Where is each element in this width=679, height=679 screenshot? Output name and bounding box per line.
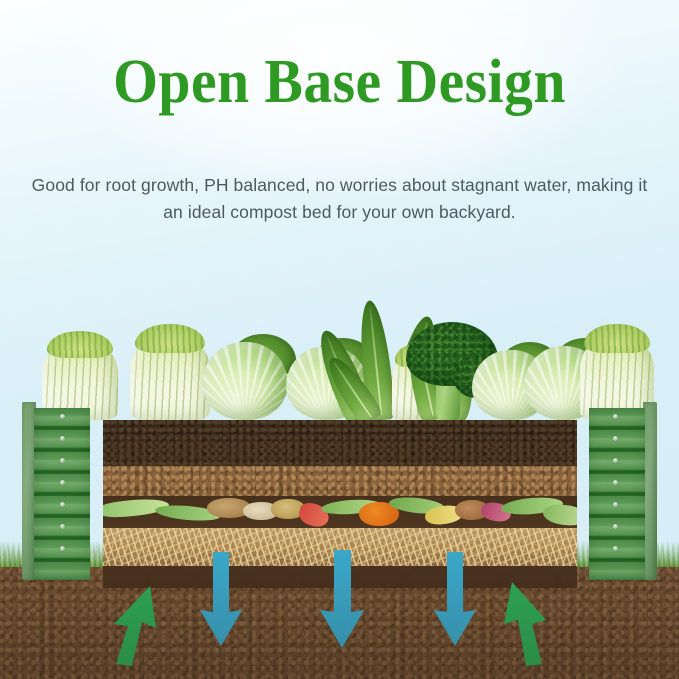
panel-screw bbox=[613, 502, 618, 507]
raised-bed-cutaway-illustration bbox=[0, 0, 679, 679]
panel-screw bbox=[613, 436, 618, 441]
panel-flange-right bbox=[643, 402, 657, 580]
panel-screw bbox=[60, 480, 65, 485]
planter-panel-left bbox=[22, 408, 90, 580]
panel-screw bbox=[60, 502, 65, 507]
layer-topsoil bbox=[103, 420, 577, 466]
arrow-down-drainage bbox=[198, 552, 244, 648]
product-feature-poster: Open Base Design Good for root growth, P… bbox=[0, 0, 679, 679]
panel-screw bbox=[60, 436, 65, 441]
panel-screw bbox=[613, 546, 618, 551]
panel-ribbed-face-right bbox=[589, 408, 645, 580]
panel-screw bbox=[613, 524, 618, 529]
layer-kitchen-scraps bbox=[103, 496, 577, 528]
arrow-up-roots bbox=[104, 580, 166, 666]
panel-screw bbox=[613, 414, 618, 419]
arrow-up-roots bbox=[498, 578, 560, 666]
layer-subsoil bbox=[103, 466, 577, 496]
vegetable-napa-cabbage bbox=[36, 322, 122, 420]
planter-panel-right bbox=[589, 408, 657, 580]
panel-screw bbox=[60, 546, 65, 551]
arrow-down-drainage bbox=[432, 552, 478, 648]
panel-screw bbox=[60, 524, 65, 529]
panel-ribbed-face-left bbox=[34, 408, 90, 580]
arrow-down-drainage bbox=[318, 550, 366, 650]
panel-screw bbox=[60, 458, 65, 463]
panel-screw bbox=[613, 480, 618, 485]
panel-screw bbox=[613, 458, 618, 463]
panel-screw bbox=[60, 414, 65, 419]
vegetable-row bbox=[0, 275, 679, 420]
